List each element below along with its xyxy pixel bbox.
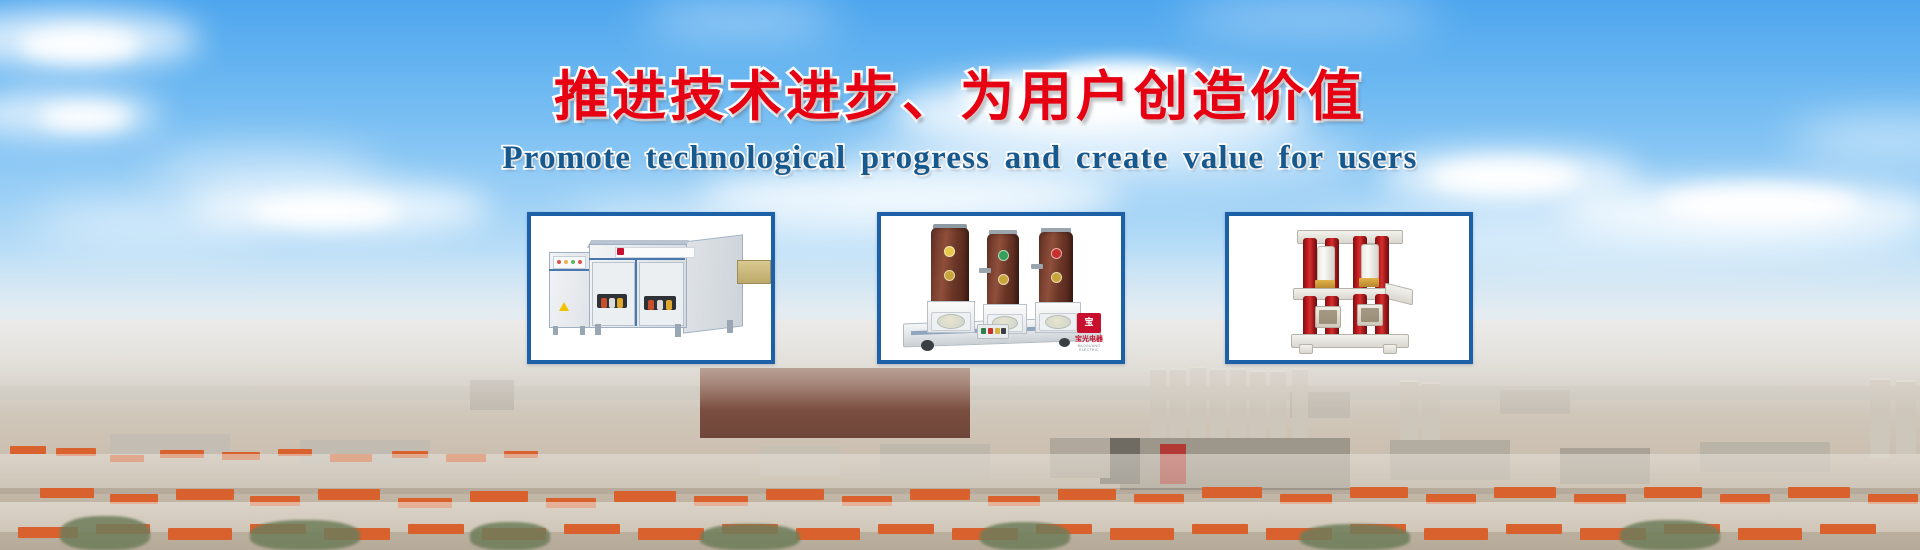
brand-logo-mark: 宝 <box>1077 313 1101 333</box>
product-panel-vacuum-contactor[interactable]: 宝 宝光电器 BAOGUANG ELECTRIC <box>877 212 1125 364</box>
brand-logo: 宝 宝光电器 BAOGUANG ELECTRIC <box>1071 313 1107 352</box>
product-panels: 宝 宝光电器 BAOGUANG ELECTRIC <box>0 212 1920 370</box>
banner-headline: 推进技术进步、为用户创造价值 <box>0 52 1920 131</box>
product-panel-switchgear[interactable] <box>527 212 775 364</box>
banner-subtitle: Promote technological progress and creat… <box>0 140 1920 177</box>
brand-logo-name: 宝光电器 <box>1071 334 1107 344</box>
product-panel-hv-contactor[interactable] <box>1225 212 1473 364</box>
brand-logo-subtext: BAOGUANG ELECTRIC <box>1071 344 1107 352</box>
product-image-hv-contactor <box>1229 216 1469 360</box>
promo-banner: 推进技术进步、为用户创造价值 Promote technological pro… <box>0 0 1920 550</box>
product-image-vacuum-contactor: 宝 宝光电器 BAOGUANG ELECTRIC <box>881 216 1121 360</box>
product-image-switchgear <box>531 216 771 360</box>
